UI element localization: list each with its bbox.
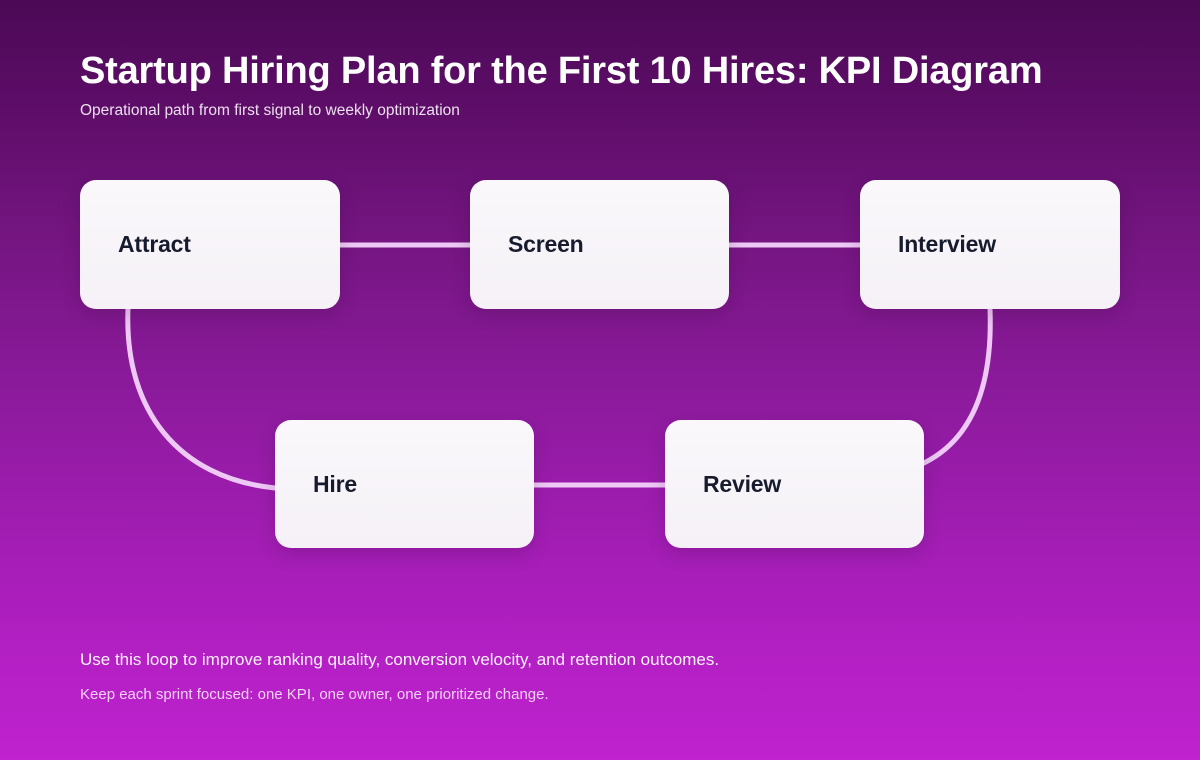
diagram-node-screen[interactable]: Screen — [470, 180, 729, 309]
connector-layer — [0, 0, 1200, 760]
connector-hire-to-attract — [128, 309, 275, 488]
node-label: Screen — [508, 233, 584, 256]
footer-secondary-text: Keep each sprint focused: one KPI, one o… — [80, 672, 1120, 705]
diagram-stage: Attract Screen Interview Hire Review — [0, 0, 1200, 760]
node-label: Attract — [118, 233, 191, 256]
diagram-node-hire[interactable]: Hire — [275, 420, 534, 548]
footer: Use this loop to improve ranking quality… — [80, 648, 1120, 705]
diagram-node-attract[interactable]: Attract — [80, 180, 340, 309]
node-label: Hire — [313, 473, 357, 496]
node-label: Review — [703, 473, 781, 496]
footer-primary-text: Use this loop to improve ranking quality… — [80, 648, 1120, 672]
diagram-node-review[interactable]: Review — [665, 420, 924, 548]
node-label: Interview — [898, 233, 996, 256]
diagram-canvas: Startup Hiring Plan for the First 10 Hir… — [0, 0, 1200, 760]
diagram-node-interview[interactable]: Interview — [860, 180, 1120, 309]
connector-interview-to-review — [924, 309, 990, 463]
